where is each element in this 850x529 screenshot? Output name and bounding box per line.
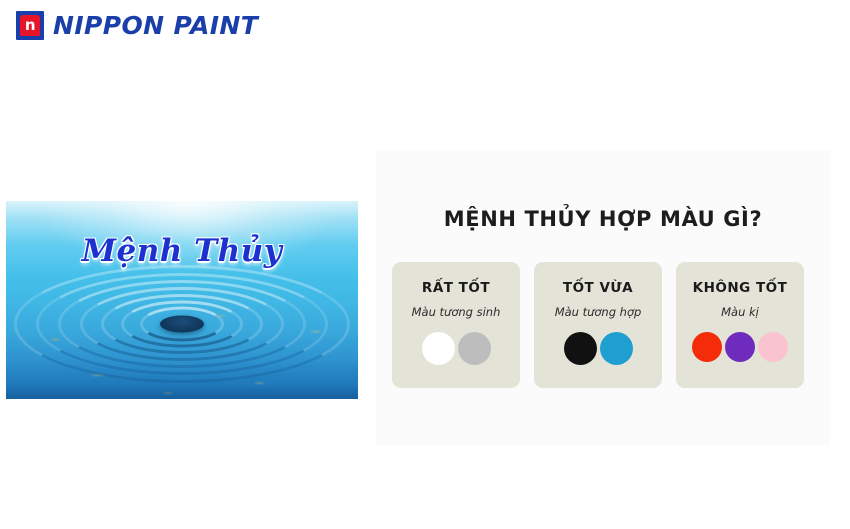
brand-wordmark: NIPPON PAINT: [53, 11, 258, 40]
swatch-row: [692, 332, 788, 362]
color-card: TỐT VỪAMàu tương hợp: [534, 262, 662, 388]
logo-letter: n: [16, 11, 44, 40]
brand-header: n NIPPON PAINT: [16, 11, 258, 40]
card-title: KHÔNG TỐT: [693, 280, 788, 296]
color-card: KHÔNG TỐTMàu kị: [676, 262, 804, 388]
swatch-white: [422, 332, 455, 365]
swatch-gray: [458, 332, 491, 365]
info-panel: MỆNH THỦY HỢP MÀU GÌ? RẤT TỐTMàu tương s…: [376, 150, 830, 445]
hero-caption: Mệnh Thủy: [6, 233, 358, 269]
swatch-row: [422, 332, 491, 365]
swatch-pink: [758, 332, 788, 362]
swatch-blue: [600, 332, 633, 365]
swatch-purple: [725, 332, 755, 362]
card-subtitle: Màu kị: [721, 305, 759, 319]
swatch-black: [564, 332, 597, 365]
color-cards-row: RẤT TỐTMàu tương sinhTỐT VỪAMàu tương hợ…: [392, 262, 804, 388]
page-title: MỆNH THỦY HỢP MÀU GÌ?: [376, 207, 830, 231]
nippon-logo-icon: n: [16, 11, 44, 40]
water-flecks: [6, 201, 358, 399]
swatch-row: [564, 332, 633, 365]
card-subtitle: Màu tương hợp: [555, 305, 642, 319]
hero-water-image: Mệnh Thủy: [6, 201, 358, 399]
card-subtitle: Màu tương sinh: [412, 305, 501, 319]
swatch-red: [692, 332, 722, 362]
color-card: RẤT TỐTMàu tương sinh: [392, 262, 520, 388]
card-title: RẤT TỐT: [422, 280, 490, 296]
card-title: TỐT VỪA: [563, 280, 633, 296]
